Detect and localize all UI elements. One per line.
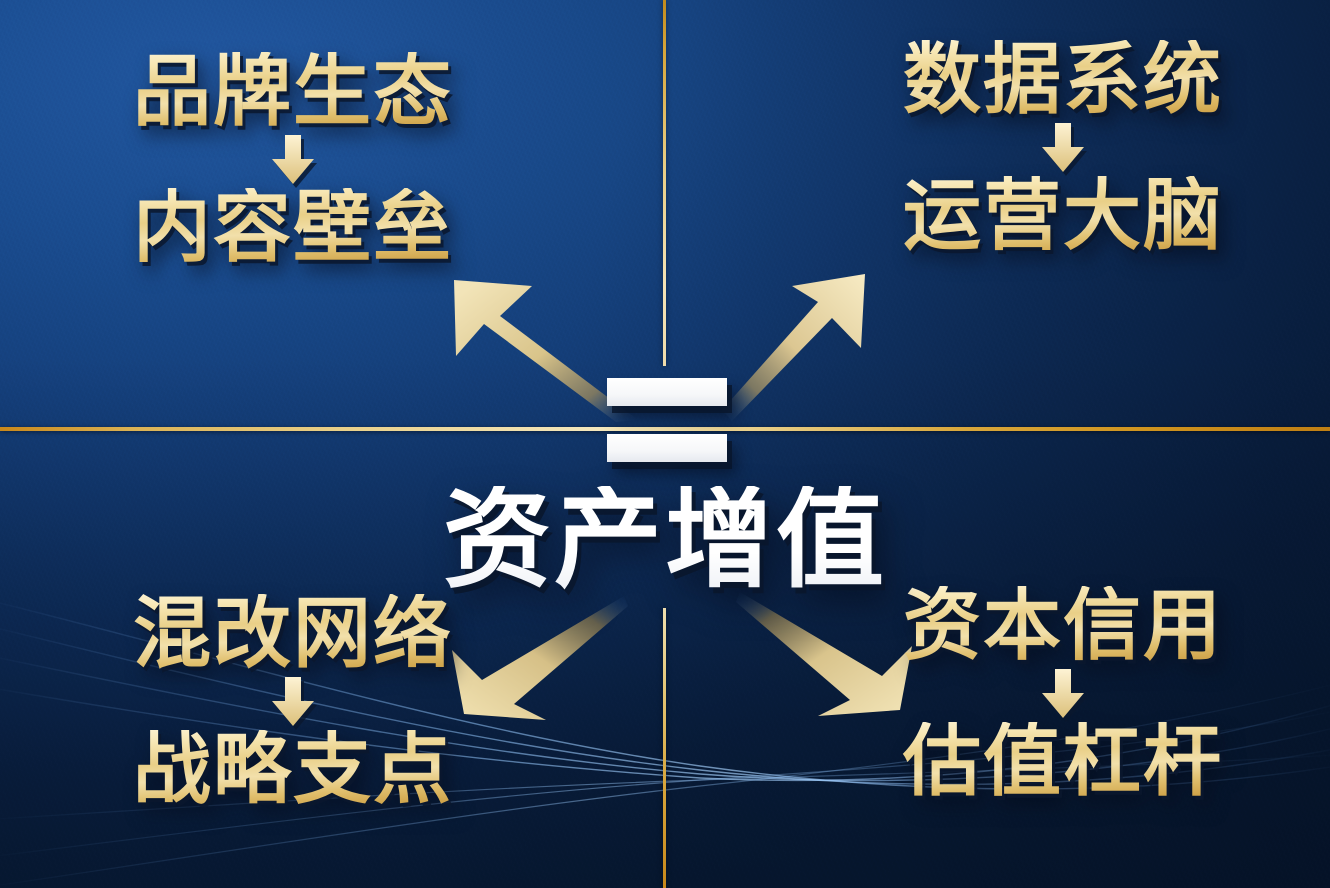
quadrant-top-right: 数据系统 运营大脑 (848, 40, 1278, 255)
equals-sign-bar-bottom (607, 434, 727, 462)
equals-sign-bar-top (607, 378, 727, 406)
quadrant-top-left-line2: 内容壁垒 (78, 188, 508, 268)
infographic-canvas: 品牌生态 内容壁垒 数据系统 (0, 0, 1330, 888)
divider-vertical-top (663, 0, 666, 366)
down-arrow-icon-bottom-left (78, 674, 508, 730)
quadrant-bottom-left: 混改网络 战略支点 (78, 594, 508, 809)
center-title: 资产增值 (0, 486, 1330, 594)
quadrant-top-right-line1: 数据系统 (848, 40, 1278, 120)
quadrant-bottom-left-line2: 战略支点 (78, 730, 508, 810)
down-arrow-icon-bottom-right (848, 666, 1278, 722)
quadrant-bottom-right-line2: 估值杠杆 (848, 722, 1278, 802)
quadrant-top-right-line2: 运营大脑 (848, 176, 1278, 256)
quadrant-bottom-left-line1: 混改网络 (78, 594, 508, 674)
quadrant-bottom-right: 资本信用 估值杠杆 (848, 586, 1278, 801)
quadrant-top-left: 品牌生态 内容壁垒 (78, 52, 508, 267)
arrow-to-top-right-icon (722, 258, 907, 423)
divider-vertical-bottom (663, 608, 666, 888)
quadrant-top-left-line1: 品牌生态 (78, 52, 508, 132)
equals-sign (607, 378, 727, 478)
quadrant-bottom-right-line1: 资本信用 (848, 586, 1278, 666)
down-arrow-icon-top-right (848, 120, 1278, 176)
down-arrow-icon-top-left (78, 132, 508, 188)
center-title-text: 资产增值 (443, 486, 887, 594)
